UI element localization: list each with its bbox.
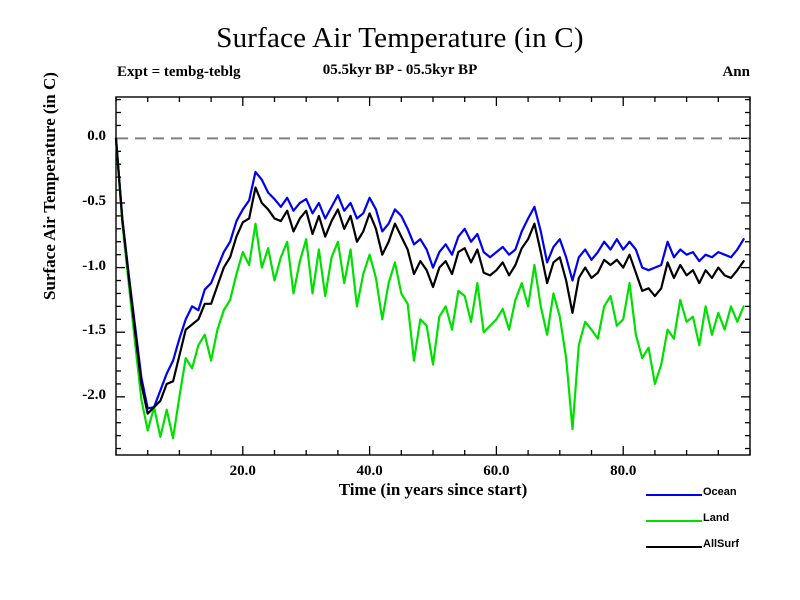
- series-line-ocean: [116, 138, 744, 408]
- y-tick-label: -1.5: [60, 322, 106, 339]
- x-tick-label: 80.0: [593, 463, 653, 480]
- chart-page: Surface Air Temperature (in C) 05.5kyr B…: [0, 0, 800, 600]
- x-tick-label: 20.0: [213, 463, 273, 480]
- legend-label-allsurf: AllSurf: [703, 538, 739, 550]
- y-tick-label: -2.0: [60, 387, 106, 404]
- legend-swatch-allsurf: [646, 546, 702, 548]
- chart-legend: Ocean Land AllSurf: [646, 484, 796, 562]
- legend-swatch-land: [646, 520, 702, 522]
- legend-label-land: Land: [703, 512, 729, 524]
- x-tick-label: 40.0: [340, 463, 400, 480]
- series-line-allsurf: [116, 138, 744, 413]
- y-tick-label: -0.5: [60, 193, 106, 210]
- legend-item-allsurf: AllSurf: [646, 536, 796, 562]
- series-layer: [116, 138, 744, 438]
- x-tick-label: 60.0: [466, 463, 526, 480]
- legend-item-ocean: Ocean: [646, 484, 796, 510]
- legend-label-ocean: Ocean: [703, 486, 737, 498]
- legend-swatch-ocean: [646, 494, 702, 496]
- y-tick-label: 0.0: [60, 128, 106, 145]
- y-tick-label: -1.0: [60, 258, 106, 275]
- axis-layer: [116, 97, 750, 455]
- legend-item-land: Land: [646, 510, 796, 536]
